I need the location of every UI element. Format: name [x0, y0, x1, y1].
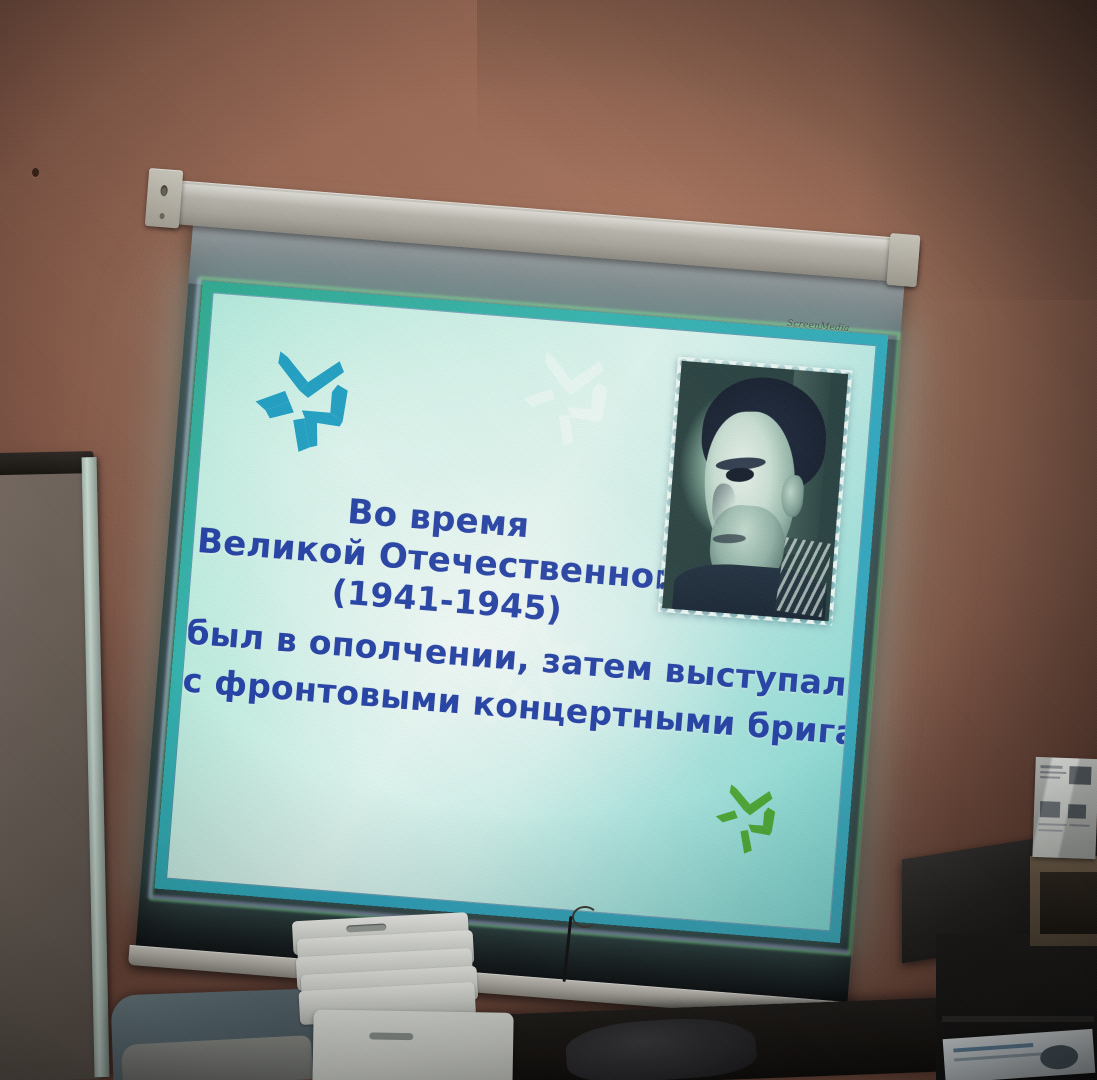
photo-scene: Во время Великой Отечественной войны (19…: [0, 0, 1097, 1080]
scene-vignette: [0, 0, 1097, 1080]
